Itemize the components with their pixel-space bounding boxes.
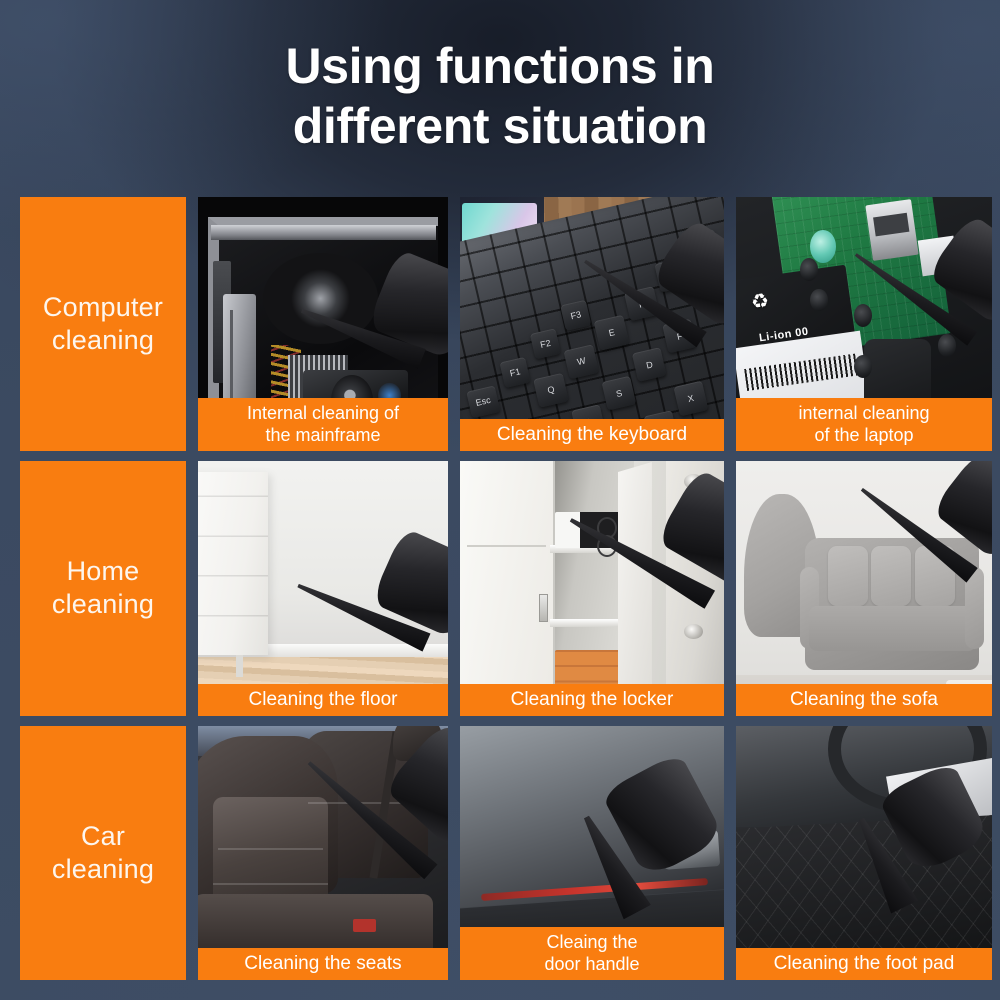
title-line-2: different situation [0,96,1000,156]
category-label: Computer cleaning [43,291,163,357]
tile-caption: internal cleaning of the laptop [736,398,992,451]
scenario-grid: Computer cleaning [20,197,980,980]
category-panel-computer-cleaning[interactable]: Computer cleaning [20,197,186,451]
category-label-line-1: Home [67,556,140,586]
caption-line-1: internal cleaning [798,403,929,423]
scenario-tile-sofa[interactable]: Cleaning the sofa [736,461,992,715]
scenario-tile-mainframe[interactable]: Internal cleaning of the mainframe [198,197,448,451]
tile-caption: Cleaning the locker [460,684,724,716]
caption-line-1: Cleaing the [546,932,637,952]
scenario-tile-foot-pad[interactable]: Cleaning the foot pad [736,726,992,980]
scenario-tile-locker[interactable]: Cleaning the locker [460,461,724,715]
caption-line-2: the mainframe [265,425,380,445]
nozzle-tool-icon [566,238,724,370]
photo-locker [460,461,724,715]
category-label-line-2: cleaning [52,854,154,884]
nozzle-tool-icon [818,777,982,965]
tile-caption: Cleaning the keyboard [460,419,724,451]
tile-caption: Cleaing the door handle [460,927,724,980]
category-panel-car-cleaning[interactable]: Car cleaning [20,726,186,980]
caption-line-2: door handle [544,954,639,974]
scenario-tile-seats[interactable]: Cleaning the seats [198,726,448,980]
photo-keyboard: Esc F1 F2 F3 Q W E R T Y A S D F Z X Alt [460,197,724,451]
nozzle-tool-icon [293,263,448,390]
photo-foot-pad [736,726,992,980]
category-label-line-2: cleaning [52,325,154,355]
tile-caption: Internal cleaning of the mainframe [198,398,448,451]
photo-car-seats [198,726,448,980]
category-label: Car cleaning [52,820,154,886]
caption-line-1: Internal cleaning of [247,403,399,423]
scenario-tile-laptop[interactable]: ♻ Li-ion 00 internal cleaning of the lap… [736,197,992,451]
nozzle-tool-icon [844,466,992,608]
tile-caption: Cleaning the sofa [736,684,992,716]
category-label-line-1: Computer [43,292,163,322]
recycle-icon: ♻ [750,287,771,314]
caption-line-2: of the laptop [814,425,913,445]
photo-floor [198,461,448,715]
title-line-1: Using functions in [0,36,1000,96]
scenario-tile-keyboard[interactable]: Esc F1 F2 F3 Q W E R T Y A S D F Z X Alt [460,197,724,451]
category-label-line-2: cleaning [52,589,154,619]
category-label-line-1: Car [81,821,125,851]
photo-sofa [736,461,992,715]
tile-caption: Cleaning the foot pad [736,948,992,980]
page-title: Using functions in different situation [0,36,1000,156]
tile-caption: Cleaning the seats [198,948,448,980]
nozzle-tool-icon [838,233,992,365]
category-panel-home-cleaning[interactable]: Home cleaning [20,461,186,715]
category-label: Home cleaning [52,555,154,621]
scenario-tile-floor[interactable]: Cleaning the floor [198,461,448,715]
nozzle-tool-icon [288,741,448,899]
nozzle-tool-icon [560,487,724,629]
infographic-poster: Using functions in different situation C… [0,0,1000,1000]
nozzle-tool-icon [288,543,448,675]
tile-caption: Cleaning the floor [198,684,448,716]
scenario-tile-door-handle[interactable]: Cleaing the door handle [460,726,724,980]
